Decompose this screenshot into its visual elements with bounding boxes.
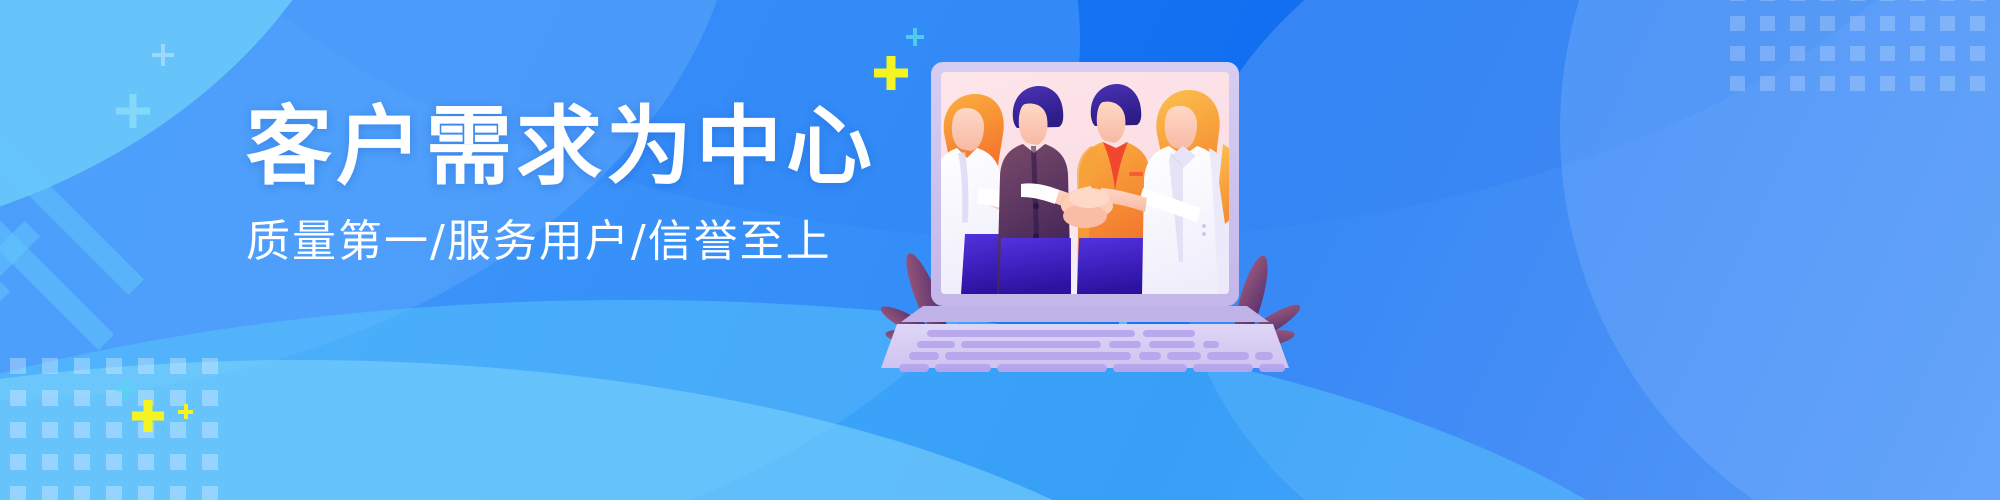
background-wave-bottom-light xyxy=(0,360,1300,500)
plus-cyan-small-top-icon xyxy=(906,28,924,46)
plus-yellow-large-icon xyxy=(874,56,908,90)
dot-grid-top-right xyxy=(1730,0,2000,106)
plus-yellow-bottom-small-icon xyxy=(178,404,193,419)
banner-subtitle: 质量第一/服务用户/信誉至上 xyxy=(246,220,876,264)
plus-cyan-icon xyxy=(116,94,150,128)
laptop-base xyxy=(881,306,1289,372)
plus-yellow-bottom-icon xyxy=(132,400,164,432)
background-wave-bottom xyxy=(0,300,1780,500)
background-wave-far-right xyxy=(1560,0,2000,500)
banner-copy: 客户需求为中心 质量第一/服务用户/信誉至上 xyxy=(246,104,876,264)
banner-headline: 客户需求为中心 xyxy=(246,104,876,190)
promo-banner: 客户需求为中心 质量第一/服务用户/信誉至上 xyxy=(0,0,2000,500)
dot-grid-bottom-left xyxy=(0,358,234,500)
plus-cyan-mid-icon xyxy=(116,379,136,399)
laptop-illustration xyxy=(905,48,1335,378)
plus-white-faint-icon xyxy=(152,44,174,66)
